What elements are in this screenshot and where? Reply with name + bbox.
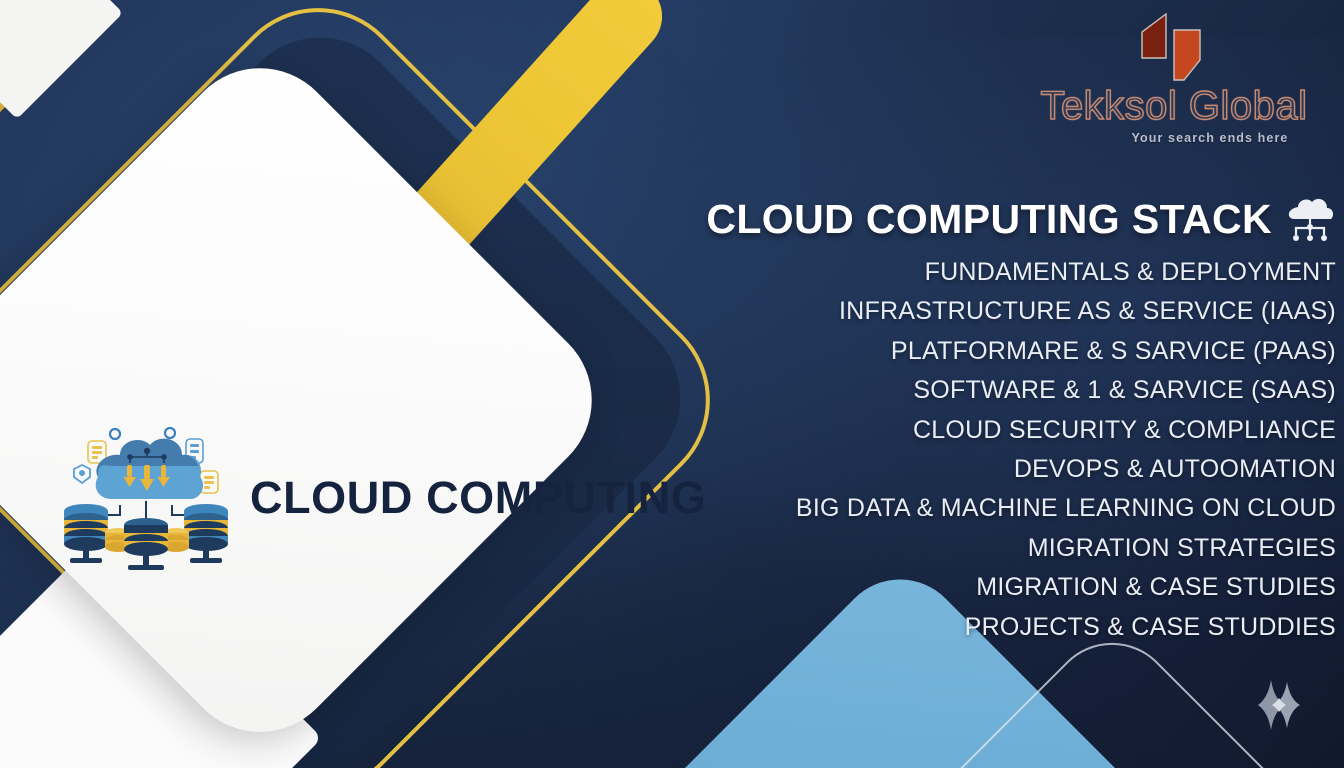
content-column: CLOUD COMPUTING STACK FUNDAMENTALS & — [676, 196, 1336, 647]
cloud-computing-card-content: CLOUD COMPUTING — [60, 418, 720, 578]
tekksol-logo-mark-icon — [1024, 8, 1324, 84]
title-row: CLOUD COMPUTING STACK — [676, 196, 1336, 243]
cloud-computing-illustration — [60, 419, 232, 577]
logo-wordmark: Tekksol Global — [1024, 86, 1324, 126]
list-item: INFRASTRUCTURE AS & SERVICE (IAAS) — [676, 292, 1336, 331]
list-item: PROJECTS & CASE STUDDIES — [676, 608, 1336, 647]
cloud-computing-label: CLOUD COMPUTING — [250, 472, 706, 524]
list-item: MIGRATION STRATEGIES — [676, 529, 1336, 568]
list-item: CLOUD SECURITY & COMPLIANCE — [676, 411, 1336, 450]
list-item: MIGRATION & CASE STUDIES — [676, 568, 1336, 607]
page-title: CLOUD COMPUTING STACK — [706, 196, 1272, 243]
sparkle-icon — [1250, 676, 1308, 734]
slide-canvas: CLOUD COMPUTING Tekksol Global Your sear… — [0, 0, 1344, 768]
cloud-network-icon — [1284, 197, 1336, 243]
topic-list: FUNDAMENTALS & DEPLOYMENT INFRASTRUCTURE… — [676, 253, 1336, 647]
logo-tagline: Your search ends here — [1024, 131, 1324, 145]
list-item: PLATFORMARE & S SARVICE (PAAS) — [676, 332, 1336, 371]
corner-white-wedge — [0, 0, 123, 119]
list-item: DEVOPS & AUTOOMATION — [676, 450, 1336, 489]
list-item: BIG DATA & MACHINE LEARNING ON CLOUD — [676, 489, 1336, 528]
list-item: FUNDAMENTALS & DEPLOYMENT — [676, 253, 1336, 292]
brand-logo: Tekksol Global Your search ends here — [1024, 8, 1324, 145]
list-item: SOFTWARE & 1 & SARVICE (SAAS) — [676, 371, 1336, 410]
